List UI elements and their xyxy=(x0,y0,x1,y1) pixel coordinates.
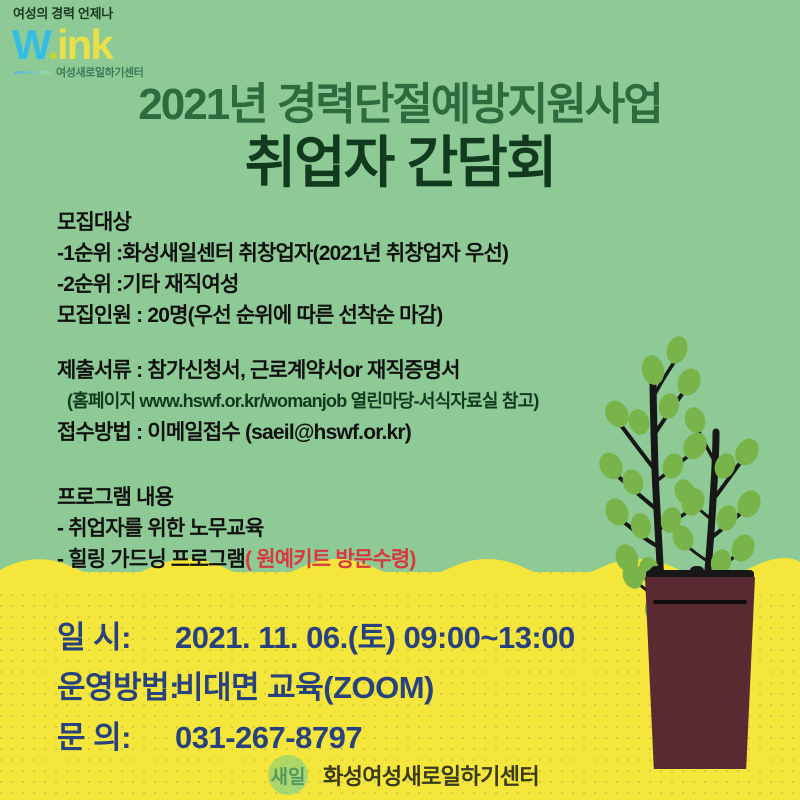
recruitment-heading: 모집대상 xyxy=(57,207,508,238)
wink-logo: W.ink xyxy=(12,24,112,66)
event-date-row: 일 시:2021. 11. 06.(토) 09:00~13:00 xyxy=(57,612,575,657)
program-item-2-accent: ( 원예키트 방문수령) xyxy=(245,548,416,571)
section-recruitment-target: 모집대상 -1순위 :화성새일센터 취창업자(2021년 취창업자 우선) -2… xyxy=(57,207,508,331)
section-program: 프로그램 내용 - 취업자를 위한 노무교육 - 힐링 가드닝 프로그램( 원예… xyxy=(57,482,416,575)
tagline-text: 여성의 경력 언제나 xyxy=(13,3,113,22)
program-item-1: - 취업자를 위한 노무교육 xyxy=(57,513,416,544)
program-item-2-main: - 힐링 가드닝 프로그램 xyxy=(57,548,245,571)
wink-logo-ink: ink xyxy=(57,21,112,68)
wink-logo-dot: . xyxy=(47,21,57,68)
saeil-logo-icon: 새일 xyxy=(261,754,315,796)
poster-canvas: 여성의 경력 언제나 W.ink 여성새로일하기센터 2021년 경력단절예방지… xyxy=(0,0,800,800)
poster-title-line1: 2021년 경력단절예방지원사업 xyxy=(0,82,800,128)
logo-divider-dash xyxy=(14,71,50,74)
program-item-2: - 힐링 가드닝 프로그램( 원예키트 방문수령) xyxy=(57,544,416,575)
event-date-value: 2021. 11. 06.(토) 09:00~13:00 xyxy=(175,620,575,655)
event-method-row: 운영방법:비대면 교육(ZOOM) xyxy=(57,662,434,707)
footer: 새일 화성여성새로일하기센터 xyxy=(0,754,800,796)
pot-container xyxy=(645,577,755,769)
documents-homepage-note: (홈페이지 www.hswf.or.kr/womanjob 열린마당-서식자료실… xyxy=(57,386,539,417)
section-documents: 제출서류 : 참가신청서, 근로계약서or 재직증명서 (홈페이지 www.hs… xyxy=(57,355,539,448)
logo-subtitle: 여성새로일하기센터 xyxy=(56,64,143,80)
event-method-value: 비대면 교육(ZOOM) xyxy=(175,670,434,705)
wink-logo-w: W xyxy=(12,21,47,68)
event-method-label: 운영방법: xyxy=(57,662,175,707)
event-contact-label: 문 의: xyxy=(57,712,175,757)
poster-title-line2: 취업자 간담회 xyxy=(0,134,800,193)
program-heading: 프로그램 내용 xyxy=(57,482,416,513)
pot-rim-line xyxy=(653,600,747,604)
event-contact-row: 문 의:031-267-8797 xyxy=(57,712,362,757)
saeil-logo-text: 새일 xyxy=(270,766,305,788)
application-method: 접수방법 : 이메일접수 (saeil@hswf.or.kr) xyxy=(57,417,539,448)
recruitment-priority-2: -2순위 :기타 재직여성 xyxy=(57,269,508,300)
event-date-label: 일 시: xyxy=(57,612,175,657)
documents-heading: 제출서류 : 참가신청서, 근로계약서or 재직증명서 xyxy=(57,355,539,386)
recruitment-capacity: 모집인원 : 20명(우선 순위에 따른 선착순 마감) xyxy=(57,300,508,331)
recruitment-priority-1: -1순위 :화성새일센터 취창업자(2021년 취창업자 우선) xyxy=(57,238,508,269)
footer-organization-name: 화성여성새로일하기센터 xyxy=(323,759,539,791)
event-contact-value: 031-267-8797 xyxy=(175,720,362,755)
